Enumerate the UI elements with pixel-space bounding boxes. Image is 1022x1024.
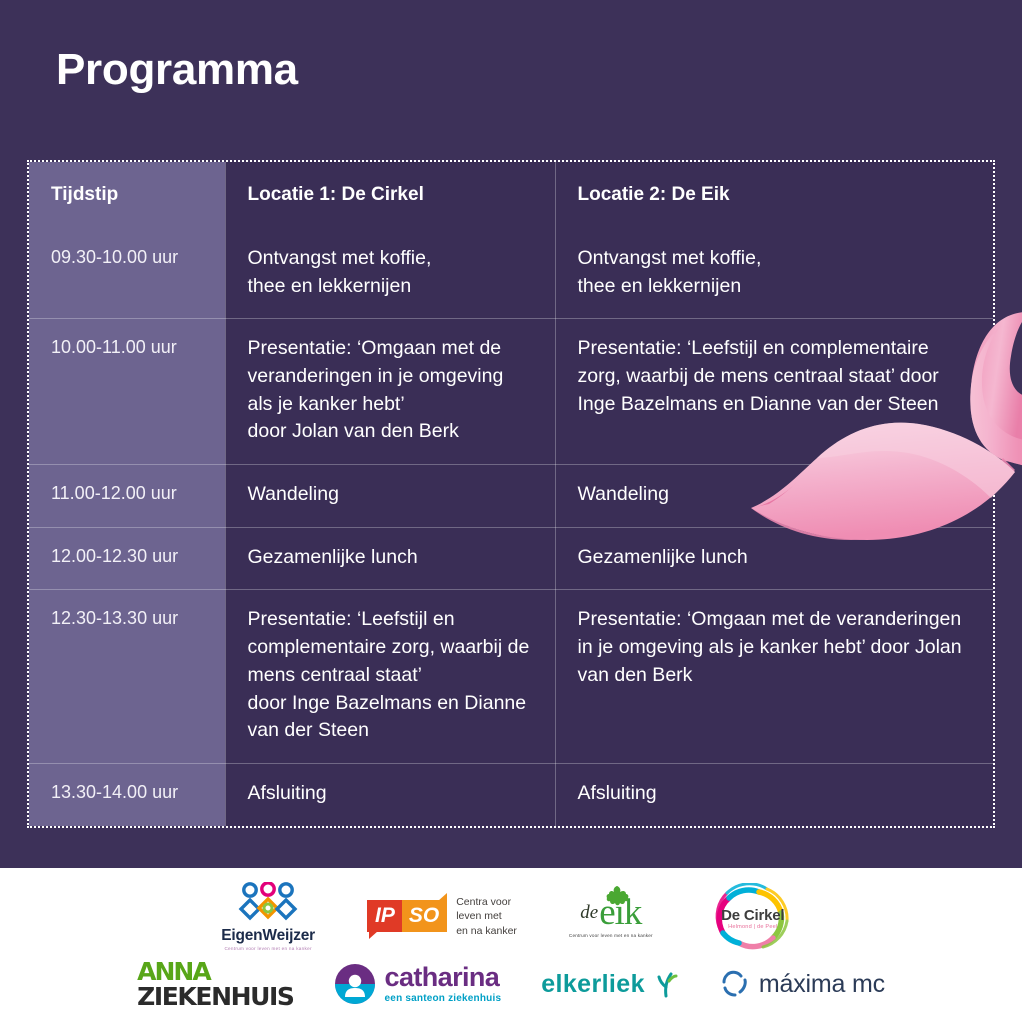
cell-location1: Presentatie: ‘Omgaan met de veranderinge… bbox=[225, 319, 555, 465]
de-eik-tagline: Centrum voor leven met en na kanker bbox=[569, 933, 653, 938]
catharina-text: catharina een santeon ziekenhuis bbox=[385, 964, 502, 1004]
column-header-locatie-1: Locatie 1: De Cirkel bbox=[225, 162, 555, 229]
anna-wordmark: ANNA bbox=[137, 960, 210, 984]
maxima-swoosh-icon bbox=[719, 968, 751, 1000]
table-row: 11.00-12.00 uur Wandeling Wandeling bbox=[29, 465, 993, 528]
cell-location2: Gezamenlijke lunch bbox=[555, 527, 993, 590]
cell-location1: Ontvangst met koffie, thee en lekkernije… bbox=[225, 229, 555, 319]
eigenweijzer-people-icon bbox=[237, 882, 299, 926]
cell-location2: Presentatie: ‘Omgaan met de veranderinge… bbox=[555, 590, 993, 763]
ipso-part-so: SO bbox=[402, 900, 447, 932]
oak-leaf-icon bbox=[604, 885, 630, 907]
table-row: 12.00-12.30 uur Gezamenlijke lunch Gezam… bbox=[29, 527, 993, 590]
cell-location2: Wandeling bbox=[555, 465, 993, 528]
maxima-wordmark: máxima mc bbox=[759, 970, 885, 999]
logo-anna-ziekenhuis: ANNA ZIEKENHUIS bbox=[137, 960, 293, 1009]
table-row: 09.30-10.00 uur Ontvangst met koffie, th… bbox=[29, 229, 993, 319]
catharina-tagline: een santeon ziekenhuis bbox=[385, 993, 502, 1004]
program-table-container: Tijdstip Locatie 1: De Cirkel Locatie 2:… bbox=[27, 160, 995, 828]
column-header-locatie-2: Locatie 2: De Eik bbox=[555, 162, 993, 229]
column-header-tijdstip: Tijdstip bbox=[29, 162, 225, 229]
de-eik-de-word: de bbox=[580, 902, 598, 924]
table-row: 10.00-11.00 uur Presentatie: ‘Omgaan met… bbox=[29, 319, 993, 465]
cell-location1: Gezamenlijke lunch bbox=[225, 527, 555, 590]
ipso-tagline: Centra voor leven met en na kanker bbox=[456, 895, 517, 938]
logo-de-eik: de eik Centrum voor leven met en na kank… bbox=[569, 895, 653, 938]
program-table: Tijdstip Locatie 1: De Cirkel Locatie 2:… bbox=[29, 162, 993, 826]
logo-elkerliek: elkerliek bbox=[541, 969, 679, 999]
partner-logos-footer: EigenWeijzer Centrum voor leven met en n… bbox=[0, 868, 1022, 1024]
cell-location2: Ontvangst met koffie, thee en lekkernije… bbox=[555, 229, 993, 319]
ipso-tail-right-icon bbox=[438, 893, 447, 901]
table-row: 13.30-14.00 uur Afsluiting Afsluiting bbox=[29, 763, 993, 825]
cell-time: 10.00-11.00 uur bbox=[29, 319, 225, 465]
ipso-mark-icon: IP SO bbox=[367, 900, 447, 932]
cell-location1: Afsluiting bbox=[225, 763, 555, 825]
logo-de-cirkel: De Cirkel Helmond | de Peel bbox=[705, 883, 801, 951]
ipso-part-ip: IP bbox=[367, 900, 402, 932]
elkerliek-wordmark: elkerliek bbox=[541, 970, 645, 999]
poster-canvas: Programma Tijdstip Locatie 1: De Cirkel … bbox=[0, 0, 1022, 1024]
logo-eigenweijzer: EigenWeijzer Centrum voor leven met en n… bbox=[221, 882, 315, 951]
elkerliek-mark-icon bbox=[653, 969, 679, 999]
cell-time: 13.30-14.00 uur bbox=[29, 763, 225, 825]
eigenweijzer-tagline: Centrum voor leven met en na kanker bbox=[224, 946, 311, 951]
cell-location2: Presentatie: ‘Leefstijl en complementair… bbox=[555, 319, 993, 465]
logo-row-top: EigenWeijzer Centrum voor leven met en n… bbox=[0, 882, 1022, 951]
cell-location1: Presentatie: ‘Leefstijl en complementair… bbox=[225, 590, 555, 763]
table-row: 12.30-13.30 uur Presentatie: ‘Leefstijl … bbox=[29, 590, 993, 763]
eigenweijzer-wordmark: EigenWeijzer bbox=[221, 927, 315, 945]
de-eik-mark: de eik bbox=[580, 895, 641, 930]
catharina-wordmark: catharina bbox=[385, 964, 502, 991]
ziekenhuis-wordmark: ZIEKENHUIS bbox=[137, 984, 293, 1009]
catharina-circle-icon bbox=[334, 963, 376, 1005]
page-title: Programma bbox=[56, 46, 298, 94]
ipso-tail-left-icon bbox=[369, 931, 378, 939]
cell-time: 12.30-13.30 uur bbox=[29, 590, 225, 763]
cell-location2: Afsluiting bbox=[555, 763, 993, 825]
logo-ipso: IP SO Centra voor leven met en na kanker bbox=[367, 895, 517, 938]
de-cirkel-tagline: Helmond | de Peel bbox=[705, 924, 801, 930]
logo-maxima-mc: máxima mc bbox=[719, 968, 885, 1000]
de-cirkel-wordmark: De Cirkel bbox=[705, 907, 801, 924]
logo-catharina: catharina een santeon ziekenhuis bbox=[334, 963, 502, 1005]
cell-time: 11.00-12.00 uur bbox=[29, 465, 225, 528]
cell-location1: Wandeling bbox=[225, 465, 555, 528]
cell-time: 12.00-12.30 uur bbox=[29, 527, 225, 590]
cell-time: 09.30-10.00 uur bbox=[29, 229, 225, 319]
table-header-row: Tijdstip Locatie 1: De Cirkel Locatie 2:… bbox=[29, 162, 993, 229]
logo-row-bottom: ANNA ZIEKENHUIS catharina een santeon zi… bbox=[0, 960, 1022, 1009]
